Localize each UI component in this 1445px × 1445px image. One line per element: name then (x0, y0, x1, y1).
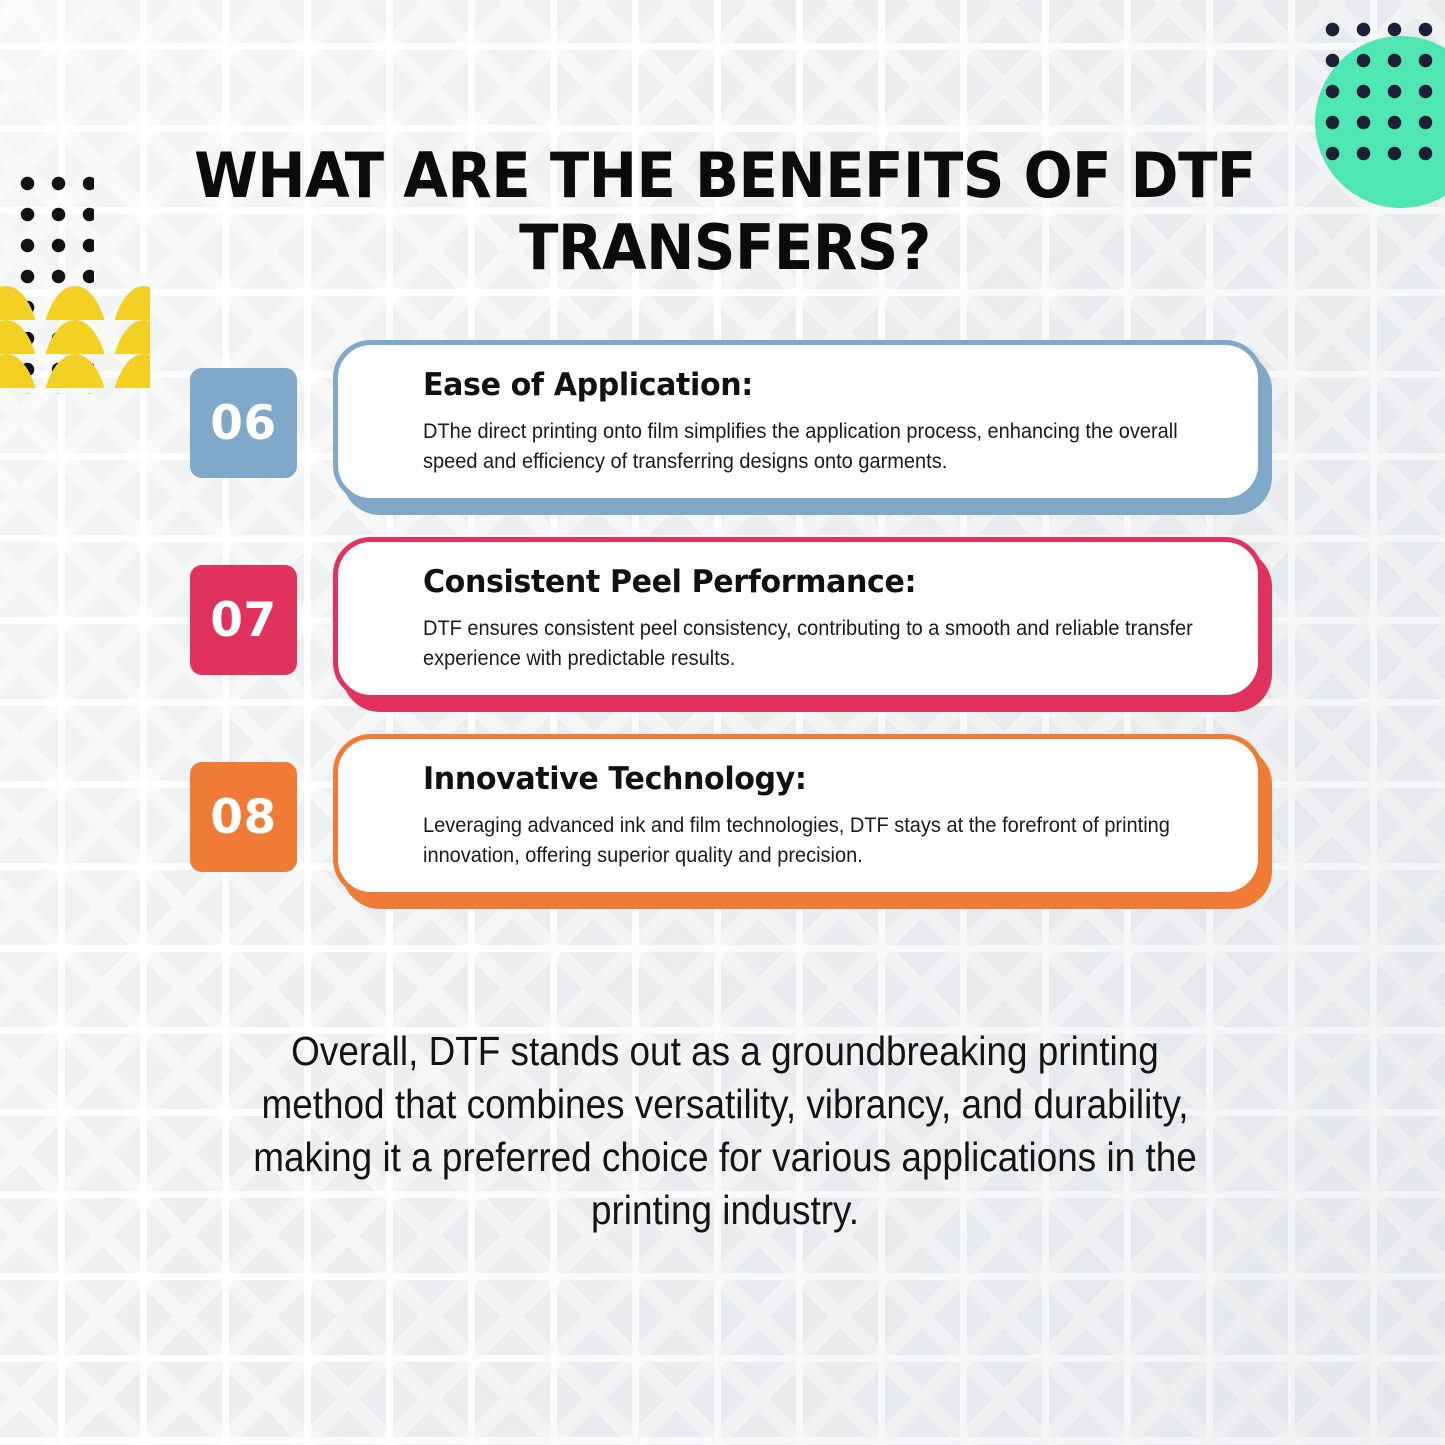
card-number-badge-07: 07 (190, 565, 297, 675)
benefit-card-06: 06 Ease of Application: DThe direct prin… (190, 340, 1265, 515)
dome-shape (110, 354, 150, 388)
summary-paragraph: Overall, DTF stands out as a groundbreak… (226, 1025, 1225, 1237)
card-heading: Innovative Technology: (423, 761, 1204, 797)
dome-shape (110, 320, 150, 354)
dome-shape (0, 354, 40, 388)
dome-row (0, 286, 150, 320)
dot-grid-top-right-decoration (1313, 8, 1439, 176)
card-number-badge-06: 06 (190, 368, 297, 478)
dome-row (0, 320, 150, 354)
dome-shape (41, 320, 109, 354)
dome-shape (110, 286, 150, 320)
card-body-06: Ease of Application: DThe direct printin… (333, 340, 1263, 503)
card-heading: Consistent Peel Performance: (423, 564, 1204, 600)
dome-shape (41, 354, 109, 388)
card-description: DTF ensures consistent peel consistency,… (423, 614, 1224, 673)
yellow-dome-pattern-decoration (0, 286, 150, 388)
dome-shape (0, 286, 40, 320)
card-body-08: Innovative Technology: Leveraging advanc… (333, 734, 1263, 897)
page-title: WHAT ARE THE BENEFITS OF DTF TRANSFERS? (190, 140, 1260, 284)
card-number-label: 08 (210, 790, 276, 845)
card-number-badge-08: 08 (190, 762, 297, 872)
card-description: DThe direct printing onto film simplifie… (423, 417, 1224, 476)
dome-row (0, 354, 150, 388)
benefit-card-08: 08 Innovative Technology: Leveraging adv… (190, 734, 1265, 909)
card-heading: Ease of Application: (423, 367, 1204, 403)
card-body-07: Consistent Peel Performance: DTF ensures… (333, 537, 1263, 700)
card-description: Leveraging advanced ink and film technol… (423, 811, 1224, 870)
dome-shape (0, 320, 40, 354)
benefit-card-07: 07 Consistent Peel Performance: DTF ensu… (190, 537, 1265, 712)
card-number-label: 07 (210, 593, 276, 648)
card-number-label: 06 (210, 396, 276, 451)
dome-shape (41, 286, 109, 320)
